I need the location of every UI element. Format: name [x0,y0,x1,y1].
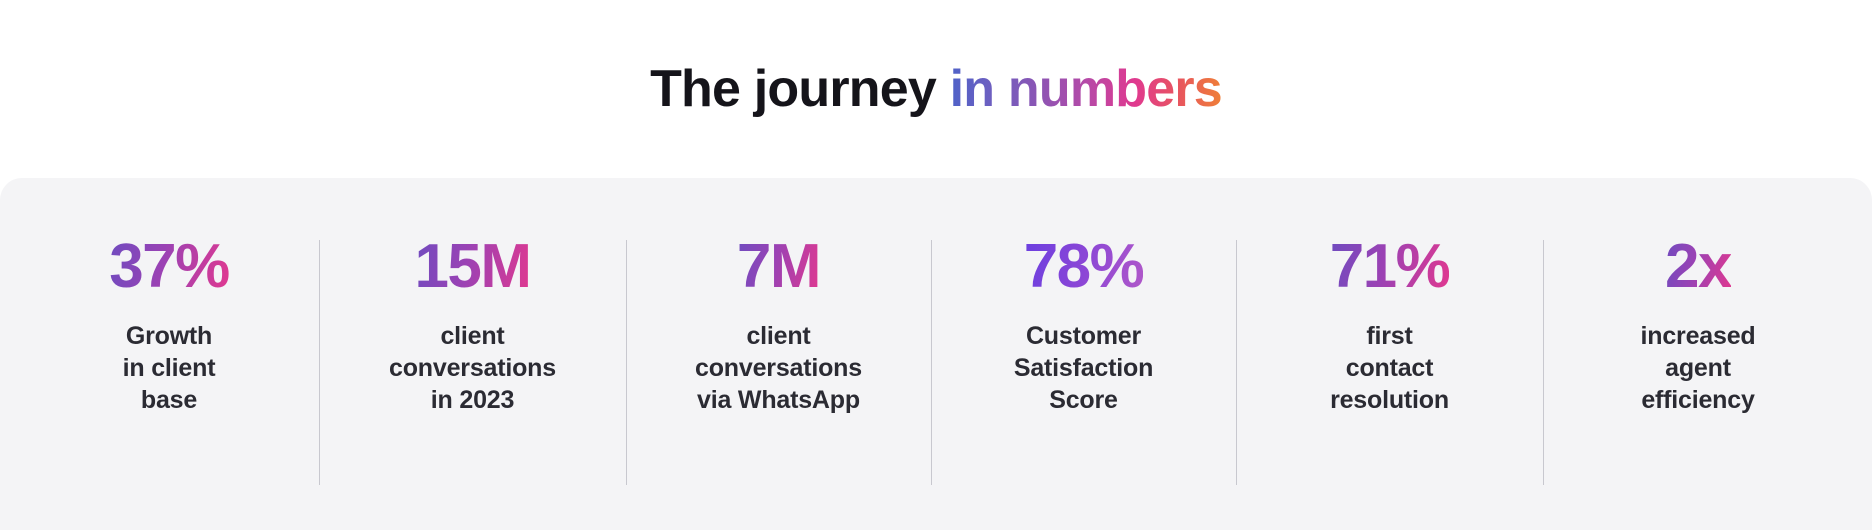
stat-value: 78% [1024,236,1144,298]
stat-item-client-conversations-2023: 15M client conversations in 2023 [319,178,626,416]
stat-label: increased agent efficiency [1641,320,1756,416]
stat-divider [1236,240,1237,485]
stat-value: 71% [1330,236,1450,298]
stat-value: 37% [109,236,229,298]
stat-item-agent-efficiency: 2x increased agent efficiency [1543,178,1853,416]
stat-label: Growth in client base [123,320,216,416]
stat-label: client conversations via WhatsApp [695,320,862,416]
stat-item-growth: 37% Growth in client base [19,178,319,416]
stat-divider [319,240,320,485]
stat-item-first-contact-resolution: 71% first contact resolution [1236,178,1543,416]
page-title-plain: The journey [650,60,950,118]
stat-value: 15M [414,236,530,298]
stats-section: The journey in numbers 37% Growth in cli… [0,0,1872,530]
stat-item-customer-satisfaction: 78% Customer Satisfaction Score [931,178,1236,416]
stat-value: 7M [737,236,820,298]
stat-value: 2x [1665,236,1731,298]
stat-label: first contact resolution [1330,320,1449,416]
stat-divider [626,240,627,485]
page-title: The journey in numbers [650,63,1222,115]
stat-label: client conversations in 2023 [389,320,556,416]
stat-item-whatsapp-conversations: 7M client conversations via WhatsApp [626,178,931,416]
page-title-gradient: in numbers [950,60,1222,118]
stat-divider [931,240,932,485]
heading-container: The journey in numbers [0,0,1872,178]
stat-label: Customer Satisfaction Score [1014,320,1153,416]
stats-row: 37% Growth in client base 15M client con… [0,178,1872,530]
stats-card: 37% Growth in client base 15M client con… [0,178,1872,530]
stat-divider [1543,240,1544,485]
